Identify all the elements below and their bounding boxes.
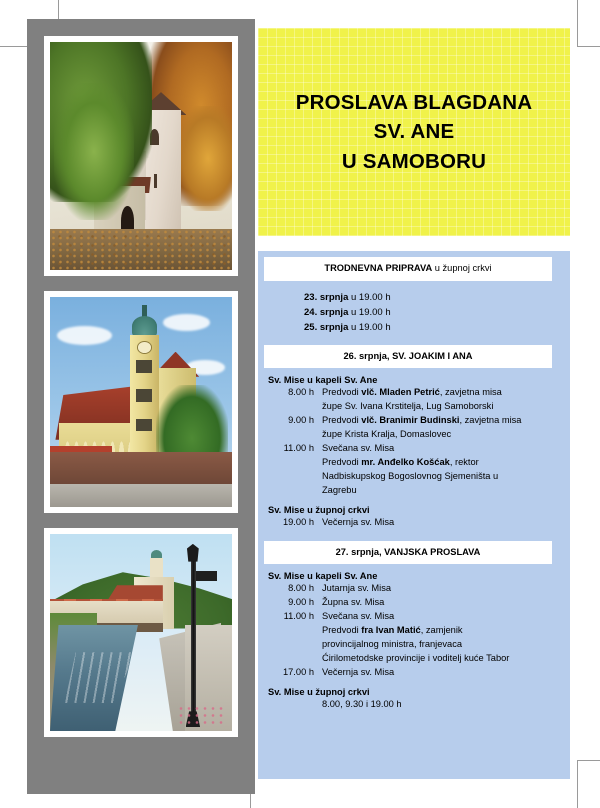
photo-green-dome: [132, 316, 157, 337]
photo-chapel-of-st-anne-autumn: [50, 42, 232, 270]
schedule-row: župe Krista Kralja, Domaslovec: [268, 428, 560, 442]
photo-card-chapel: [44, 36, 238, 276]
photo-tower-clock: [137, 341, 152, 354]
schedule-row: Zagrebu: [268, 484, 560, 498]
photo-card-parish-church: [44, 291, 238, 513]
schedule-text-pre: Župna sv. Misa: [322, 597, 384, 607]
schedule-text-bold: mr. Anđelko Košćak: [361, 457, 450, 467]
day-two-header-box: 27. srpnja, VANJSKA PROSLAVA: [264, 541, 552, 565]
schedule-row: 8.00 h Jutarnja sv. Misa: [268, 582, 560, 596]
schedule-row: Predvodi fra Ivan Matić, zamjenik: [268, 624, 560, 638]
photo-lamppost-pole: [191, 556, 196, 721]
schedule-text-pre: Zagrebu: [322, 485, 357, 495]
schedule-row: 9.00 h Župna sv. Misa: [268, 596, 560, 610]
photo-fallen-leaves: [50, 229, 232, 270]
photo-green-tree-left-2: [54, 83, 134, 220]
day-one-header: 26. srpnja, SV. JOAKIM I ANA: [344, 351, 473, 361]
schedule-text-post: , rektor: [450, 457, 479, 467]
schedule-text-pre: provincijalnog ministra, franjevaca: [322, 639, 462, 649]
preparation-header-box: TRODNEVNA PRIPRAVA u župnoj crkvi: [264, 257, 552, 281]
schedule-row: Predvodi mr. Anđelko Košćak, rektor: [268, 456, 560, 470]
schedule-text: Jutarnja sv. Misa: [322, 582, 560, 596]
schedule-row: 8.00 h Predvodi vlč. Mladen Petrić, zavj…: [268, 386, 560, 400]
schedule-text: Predvodi vlč. Mladen Petrić, zavjetna mi…: [322, 386, 560, 400]
schedule-time: 8.00 h: [268, 386, 322, 400]
schedule-text: Nadbiskupskog Bogoslovnog Sjemeništa u: [322, 470, 560, 484]
preparation-date-2: 24. srpnja u 19.00 h: [304, 305, 570, 320]
day-one-chapel-title: Sv. Mise u kapeli Sv. Ane: [268, 375, 560, 385]
photo-parish-church-samobor: [50, 297, 232, 507]
schedule-text-pre: Svečana sv. Misa: [322, 443, 394, 453]
schedule-row: 9.00 h Predvodi vlč. Branimir Budinski, …: [268, 414, 560, 428]
photo-tower-slit: [154, 174, 158, 188]
schedule-text-pre: Predvodi: [322, 387, 361, 397]
schedule-text-pre: župe Krista Kralja, Domaslovec: [322, 429, 451, 439]
preparation-date-1: 23. srpnja u 19.00 h: [304, 290, 570, 305]
schedule-time: 19.00 h: [268, 516, 322, 530]
schedule-text: Predvodi vlč. Branimir Budinski, zavjetn…: [322, 414, 560, 428]
schedule-row: župe Sv. Ivana Krstitelja, Lug Samoborsk…: [268, 400, 560, 414]
schedule-text: Predvodi fra Ivan Matić, zamjenik: [322, 624, 560, 638]
schedule-time: [268, 698, 322, 712]
day-two-chapel-title: Sv. Mise u kapeli Sv. Ane: [268, 571, 560, 581]
preparation-date-3-rest: u 19.00 h: [348, 322, 390, 333]
schedule-row: Nadbiskupskog Bogoslovnog Sjemeništa u: [268, 470, 560, 484]
page-guide-right: [577, 0, 578, 46]
preparation-date-3-day: 25. srpnja: [304, 322, 348, 333]
schedule-row: 19.00 h Večernja sv. Misa: [268, 516, 560, 530]
photo-market-stalls: [50, 452, 232, 486]
photo-gradna-creek-samobor: [50, 534, 232, 731]
photo-plaza: [50, 484, 232, 507]
photo-frame: [27, 19, 255, 794]
schedule-row: 11.00 h Svečana sv. Misa: [268, 442, 560, 456]
schedule-text-pre: Predvodi: [322, 625, 361, 635]
schedule-text-pre: Predvodi: [322, 415, 361, 425]
schedule-text: Svečana sv. Misa: [322, 610, 560, 624]
schedule-row: provincijalnog ministra, franjevaca: [268, 638, 560, 652]
schedule-text: Večernja sv. Misa: [322, 516, 560, 530]
poster-title-line-2: SV. ANE: [374, 117, 455, 146]
day-two-chapel-block: Sv. Mise u kapeli Sv. Ane 8.00 h Jutarnj…: [258, 564, 570, 717]
poster-title-line-3: U SAMOBORU: [342, 147, 486, 176]
photo-tower-window: [136, 389, 152, 402]
page-guide-right-bottom: [577, 760, 578, 808]
day-one-parish-title: Sv. Mise u župnoj crkvi: [268, 505, 560, 515]
schedule-text-post: , zamjenik: [421, 625, 463, 635]
schedule-text-bold: vlč. Branimir Budinski: [361, 415, 459, 425]
program-panel: TRODNEVNA PRIPRAVA u župnoj crkvi 23. sr…: [258, 251, 570, 779]
schedule-text: Ćirilometodske provincije i voditelj kuć…: [322, 652, 560, 666]
schedule-row: Ćirilometodske provincije i voditelj kuć…: [268, 652, 560, 666]
preparation-date-1-day: 23. srpnja: [304, 292, 348, 303]
poster-title-line-1: PROSLAVA BLAGDANA: [296, 88, 533, 117]
page-guide-bottom-right: [577, 760, 600, 761]
page-guide-top-right: [577, 46, 600, 47]
schedule-text: Svečana sv. Misa: [322, 442, 560, 456]
schedule-text: Župna sv. Misa: [322, 596, 560, 610]
schedule-text-bold: fra Ivan Matić: [361, 625, 420, 635]
schedule-time: 9.00 h: [268, 414, 322, 428]
preparation-date-3: 25. srpnja u 19.00 h: [304, 320, 570, 335]
schedule-text-pre: Večernja sv. Misa: [322, 517, 394, 527]
schedule-text: župe Krista Kralja, Domaslovec: [322, 428, 560, 442]
schedule-text-pre: Večernja sv. Misa: [322, 667, 394, 677]
photo-lamp-arm: [196, 571, 218, 581]
schedule-text-bold: vlč. Mladen Petrić: [361, 387, 440, 397]
schedule-time: 11.00 h: [268, 610, 322, 624]
schedule-time: 8.00 h: [268, 582, 322, 596]
photo-tower-window: [136, 360, 152, 373]
schedule-text: Večernja sv. Misa: [322, 666, 560, 680]
day-one-header-box: 26. srpnja, SV. JOAKIM I ANA: [264, 345, 552, 369]
day-two-parish-title: Sv. Mise u župnoj crkvi: [268, 687, 560, 697]
schedule-time: 11.00 h: [268, 442, 322, 456]
preparation-dates: 23. srpnja u 19.00 h 24. srpnja u 19.00 …: [258, 281, 570, 345]
schedule-text-pre: 8.00, 9.30 i 19.00 h: [322, 699, 402, 709]
schedule-text: Predvodi mr. Anđelko Košćak, rektor: [322, 456, 560, 470]
schedule-text-pre: Predvodi: [322, 457, 361, 467]
schedule-text-post: , zavjetna misa: [440, 387, 502, 397]
schedule-text-pre: Nadbiskupskog Bogoslovnog Sjemeništa u: [322, 471, 498, 481]
schedule-row: 11.00 h Svečana sv. Misa: [268, 610, 560, 624]
preparation-date-2-rest: u 19.00 h: [348, 307, 390, 318]
schedule-text-pre: Svečana sv. Misa: [322, 611, 394, 621]
schedule-time: 9.00 h: [268, 596, 322, 610]
schedule-text-pre: Ćirilometodske provincije i voditelj kuć…: [322, 653, 509, 663]
preparation-header-bold: TRODNEVNA PRIPRAVA: [324, 263, 432, 273]
schedule-text-pre: Jutarnja sv. Misa: [322, 583, 391, 593]
schedule-text: provincijalnog ministra, franjevaca: [322, 638, 560, 652]
schedule-text: 8.00, 9.30 i 19.00 h: [322, 698, 560, 712]
schedule-time: 17.00 h: [268, 666, 322, 680]
photo-autumn-tree-right-2: [177, 106, 232, 211]
photo-flowers: [177, 705, 224, 725]
schedule-text: Zagrebu: [322, 484, 560, 498]
schedule-text: župe Sv. Ivana Krstitelja, Lug Samoborsk…: [322, 400, 560, 414]
photo-tower-window: [136, 419, 152, 432]
preparation-date-1-rest: u 19.00 h: [348, 292, 390, 303]
day-two-header: 27. srpnja, VANJSKA PROSLAVA: [336, 547, 481, 557]
title-banner: PROSLAVA BLAGDANA SV. ANE U SAMOBORU: [258, 28, 570, 236]
schedule-row: 17.00 h Večernja sv. Misa: [268, 666, 560, 680]
schedule-text-pre: župe Sv. Ivana Krstitelja, Lug Samoborsk…: [322, 401, 493, 411]
schedule-text-post: , zavjetna misa: [459, 415, 521, 425]
day-one-chapel-block: Sv. Mise u kapeli Sv. Ane 8.00 h Predvod…: [258, 368, 570, 534]
photo-card-creek: [44, 528, 238, 737]
schedule-row: 8.00, 9.30 i 19.00 h: [268, 698, 560, 712]
preparation-header-rest: u župnoj crkvi: [432, 263, 491, 273]
photo-cloud: [163, 314, 210, 331]
preparation-date-2-day: 24. srpnja: [304, 307, 348, 318]
